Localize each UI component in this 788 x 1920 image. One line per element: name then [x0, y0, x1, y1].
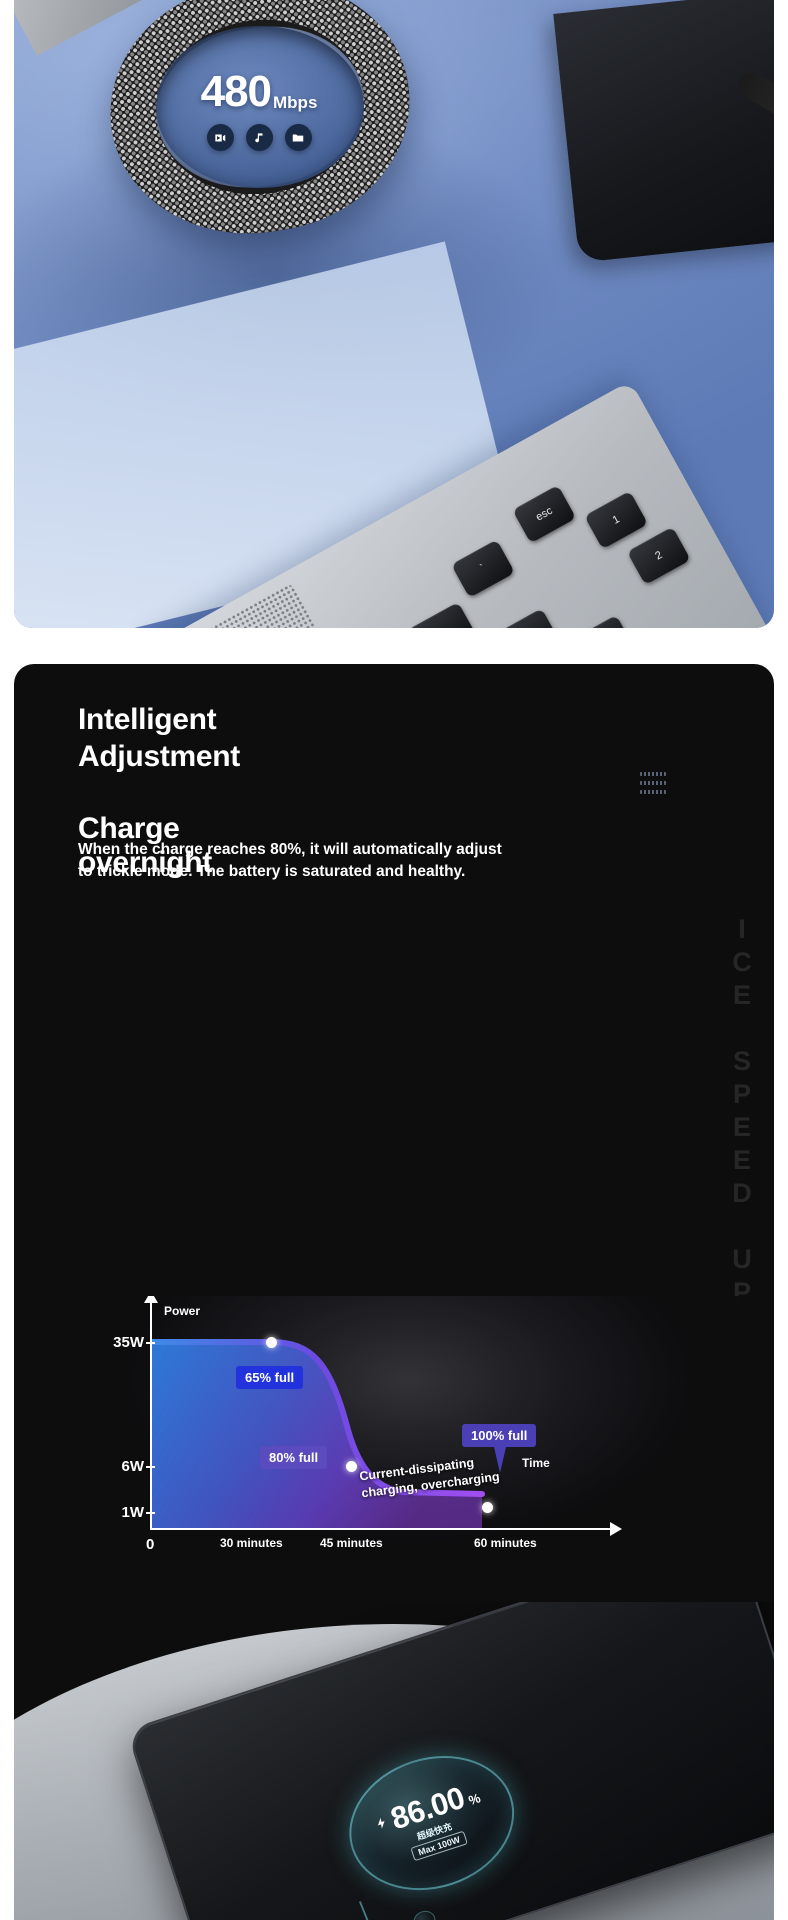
transfer-speed-badge: 480 Mbps	[154, 70, 364, 151]
curve-area-path	[152, 1342, 482, 1528]
speed-unit: Mbps	[273, 94, 317, 114]
y-tick-35w: 35W	[82, 1334, 144, 1351]
x-tick-30min: 30 minutes	[220, 1536, 283, 1550]
lightning-bolt-icon	[373, 1812, 391, 1834]
speed-value-row: 480 Mbps	[154, 70, 364, 114]
charging-status-bubble: 86.00 % 超级快充 Max 100W	[332, 1735, 532, 1911]
speed-number: 480	[201, 70, 271, 114]
product-detail-page: 480 Mbps esc ` 1 2	[0, 0, 788, 1920]
data-point-100	[482, 1502, 493, 1513]
key-backtick: `	[451, 539, 515, 597]
key-2: 2	[627, 527, 691, 585]
percent-symbol: %	[467, 1790, 483, 1810]
hamburger-menu-icon[interactable]	[640, 772, 666, 794]
watermark-text: ICE SPEED UP	[728, 914, 756, 1310]
key-tab: 2	[407, 602, 476, 628]
charging-curve-chart: Power Time 35W 6W 1W 0 30 minutes 45 min…	[14, 1296, 774, 1596]
data-point-80	[346, 1461, 357, 1472]
badge-100-full: 100% full	[462, 1424, 536, 1447]
cable-hero-panel: 480 Mbps esc ` 1 2	[14, 0, 774, 628]
y-tick-mark-35w	[146, 1342, 155, 1344]
menu-line-2	[640, 781, 666, 785]
x-tick-45min: 45 minutes	[320, 1536, 383, 1550]
y-tick-6w: 6W	[82, 1458, 144, 1475]
badge-80-full: 80% full	[260, 1446, 327, 1469]
video-play-icon	[207, 124, 234, 151]
intelligent-adjustment-panel: ICE SPEED UP Intelligent Adjustment Char…	[14, 664, 774, 1920]
key-1: 1	[584, 491, 648, 549]
menu-line-1	[640, 772, 666, 776]
phone-charging-panel: 86.00 % 超级快充 Max 100W	[14, 1602, 774, 1920]
y-tick-mark-6w	[146, 1466, 155, 1468]
page-title-line1: Intelligent	[78, 702, 216, 739]
x-tick-60min: 60 minutes	[474, 1536, 537, 1550]
decorative-bubble-3	[411, 1908, 438, 1920]
y-tick-mark-1w	[146, 1512, 155, 1514]
key-w: W	[574, 615, 635, 628]
y-axis	[150, 1302, 152, 1530]
y-axis-label: Power	[164, 1304, 200, 1318]
feature-icon-row	[154, 124, 364, 151]
x-axis-label: Time	[522, 1456, 550, 1470]
data-point-65	[266, 1337, 277, 1348]
x-axis	[150, 1528, 610, 1530]
bubble-tail	[359, 1888, 410, 1920]
music-note-icon	[246, 124, 273, 151]
page-title-line2: Adjustment	[78, 739, 240, 776]
body-paragraph: When the charge reaches 80%, it will aut…	[78, 839, 508, 883]
folder-icon	[285, 124, 312, 151]
key-q: Q	[500, 608, 561, 628]
chart-plot-area: Power Time 35W 6W 1W 0 30 minutes 45 min…	[124, 1296, 684, 1596]
menu-line-3	[640, 790, 666, 794]
laptop-screen-corner	[553, 0, 774, 263]
x-tick-origin: 0	[146, 1536, 154, 1553]
y-tick-1w: 1W	[82, 1504, 144, 1521]
badge-65-full: 65% full	[236, 1366, 303, 1389]
